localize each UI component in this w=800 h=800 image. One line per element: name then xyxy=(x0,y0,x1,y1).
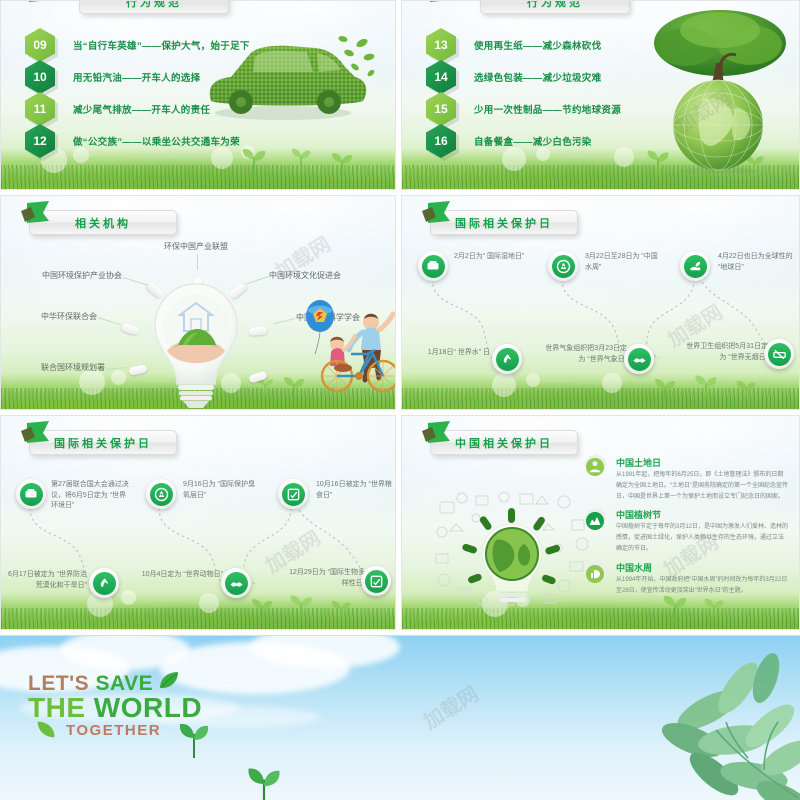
leader-line xyxy=(98,317,121,325)
slide-organizations: 相关机构 环保中国产业联盟 中国环境保护产业协会 中华环保联合会 联合国环境规划… xyxy=(0,195,396,410)
timeline-node[interactable] xyxy=(89,568,119,598)
timeline-node[interactable] xyxy=(548,251,578,281)
sprout-icon xyxy=(650,375,680,403)
slide-title: 相关机构 xyxy=(75,215,131,231)
sprout-icon xyxy=(327,149,357,177)
list-item-text: 自备餐盒——减少白色污染 xyxy=(474,134,592,148)
timeline-label: 3月22日至28日为 “中国水周” xyxy=(585,252,663,273)
bokeh xyxy=(526,373,540,387)
entry-title: 中国植树节 xyxy=(616,508,661,521)
slide-title-wrap: 国际相关保护日 xyxy=(17,430,177,455)
leaf-icon xyxy=(156,668,182,694)
leader-line xyxy=(197,254,198,270)
slide-intl-days-2: 国际相关保护日 第27届联合国大会通过决议，将6月5日定为 “世界环境日” 9月… xyxy=(0,415,396,630)
timeline-node[interactable] xyxy=(680,251,710,281)
watermark: 加载网 xyxy=(417,678,483,734)
slide-title-wrap: 相关机构 xyxy=(17,210,177,235)
hex-number: 09 xyxy=(33,38,46,52)
timeline-label: 世界卫生组织把5月31日定为 “世界无烟日” xyxy=(686,342,768,363)
org-label: 联合国环境规划署 xyxy=(41,362,105,373)
grain-icon xyxy=(282,483,305,506)
entry-body: 从1991年起，把每年的6月25日，即《土地管理法》颁布的日期确定为全国土地日。… xyxy=(616,470,788,503)
bokeh xyxy=(111,370,126,385)
slide-title-wrap: 国际相关保护日 xyxy=(418,210,578,235)
org-center-label: 环保中国产业联盟 xyxy=(164,241,228,252)
timeline-node[interactable] xyxy=(16,479,46,509)
slide-title: 行为规范 xyxy=(126,0,182,10)
timeline-node[interactable] xyxy=(764,339,794,369)
entry-title: 中国土地日 xyxy=(616,456,661,469)
globe-tree-illustration xyxy=(624,3,800,173)
lightbulb-illustration xyxy=(145,281,247,409)
flag-icon xyxy=(422,0,456,6)
no-smoking-icon xyxy=(768,343,791,366)
hand-leaf-icon xyxy=(684,255,707,278)
handshake-icon xyxy=(628,348,651,371)
timeline-label: 6月17日被定为 “世界防治荒漠化和干旱日” xyxy=(5,570,87,591)
slide-deck: 行为规范 09 当“自行车英雄”——保护大气，始于足下 10 用无铅汽油——开车… xyxy=(0,0,800,800)
hex-number: 10 xyxy=(33,70,46,84)
bottom-banner: LET'S SAVE THE WORLD TOGETHER xyxy=(0,635,800,800)
timeline-label: 4月22日也日为全球性的 “地球日” xyxy=(718,252,796,273)
timeline-node[interactable] xyxy=(361,566,391,596)
slide-behavior-1: 行为规范 09 当“自行车英雄”——保护大气，始于足下 10 用无铅汽油——开车… xyxy=(0,0,396,190)
timeline-label: 1月18日“ 世界水” 日 xyxy=(410,348,490,359)
bokeh xyxy=(492,373,516,397)
leader-line xyxy=(246,276,269,284)
water-week-icon[interactable] xyxy=(582,561,608,587)
recycle-icon xyxy=(552,255,575,278)
slide-title: 国际相关保护日 xyxy=(455,215,553,231)
org-label: 中国环境保护产业协会 xyxy=(42,270,122,281)
entry-body: 从1994年开始，中国政府把“中国水周”的时间改为每年的3月22日至28日，使宣… xyxy=(616,575,788,597)
animal-icon xyxy=(225,572,248,595)
slide-title: 国际相关保护日 xyxy=(54,435,152,451)
bokeh xyxy=(199,593,219,613)
family-bicycle-illustration xyxy=(289,296,396,396)
slide-title-bar: 行为规范 xyxy=(79,0,229,14)
slide-behavior-2: 行为规范 13 使用再生纸——减少森林砍伐 14 选绿色包装——减少垃圾灾难 1… xyxy=(401,0,800,190)
list-item[interactable]: 09 当“自行车英雄”——保护大气，始于足下 xyxy=(25,28,250,62)
ozone-icon xyxy=(150,483,173,506)
sprout-icon xyxy=(247,595,277,623)
timeline-node[interactable] xyxy=(492,344,522,374)
slide-china-days: 中国相关保护日 xyxy=(401,415,800,630)
sprout-icon xyxy=(175,718,213,758)
timeline-label: 2月2日为“ 国际湿地日” xyxy=(454,252,532,263)
org-label: 中国环境文化促进会 xyxy=(269,270,341,281)
timeline-node[interactable] xyxy=(221,568,251,598)
timeline-label: 世界气象组织把3月23日定为 “世界气象日” xyxy=(545,344,627,365)
timeline-label: 第27届联合国大会通过决议，将6月5日定为 “世界环境日” xyxy=(51,480,129,512)
slide-title: 中国相关保护日 xyxy=(455,435,553,451)
list-item[interactable]: 14 选绿色包装——减少垃圾灾难 xyxy=(426,60,601,94)
leaf-icon xyxy=(34,716,58,742)
slide-intl-days-1: 国际相关保护日 2月2日为“ 国际湿地日” 3月22日至28日为 “中国水周” xyxy=(401,195,800,410)
bokeh xyxy=(602,373,622,393)
list-item-text: 选绿色包装——减少垃圾灾难 xyxy=(474,70,601,84)
list-item[interactable]: 13 使用再生纸——减少森林砍伐 xyxy=(426,28,601,62)
hex-number: 11 xyxy=(34,102,47,116)
list-item-text: 减少尾气排放——开车人的责任 xyxy=(73,102,210,116)
hex-number: 13 xyxy=(434,38,447,52)
water-drop-icon xyxy=(496,348,519,371)
list-item-text: 当“自行车英雄”——保护大气，始于足下 xyxy=(73,38,250,52)
sprout-icon xyxy=(700,595,728,621)
entry-title: 中国水周 xyxy=(616,561,652,574)
list-item[interactable]: 10 用无铅汽油——开车人的选择 xyxy=(25,60,200,94)
biodiversity-icon xyxy=(365,570,388,593)
hex-number: 16 xyxy=(434,134,447,148)
hex-number: 12 xyxy=(33,134,46,148)
timeline-node[interactable] xyxy=(418,251,448,281)
timeline-label: 9月16日为 “国际保护臭氧层日” xyxy=(183,480,261,501)
desert-icon xyxy=(93,572,116,595)
sprout-icon xyxy=(243,762,285,800)
sprout-icon xyxy=(285,591,317,621)
timeline-label: 10月4日定为 “世界动物日” xyxy=(141,570,223,581)
timeline-node[interactable] xyxy=(624,344,654,374)
bokeh xyxy=(121,590,136,605)
sprout-icon xyxy=(287,145,315,171)
slide-title: 行为规范 xyxy=(527,0,583,10)
entry-body: 中国植树节定于每年的3月12日，是中国为激发人们爱林、造林的感情，促进国土绿化，… xyxy=(616,522,788,555)
slide-title-wrap: 行为规范 xyxy=(420,0,630,14)
timeline-node[interactable] xyxy=(146,479,176,509)
list-item-text: 使用再生纸——减少森林砍伐 xyxy=(474,38,601,52)
flag-icon xyxy=(420,421,454,447)
flag-icon xyxy=(19,201,53,227)
world-doodle-illustration xyxy=(432,488,592,618)
sprout-icon xyxy=(237,145,271,175)
pill-marker xyxy=(120,322,140,335)
timeline-node[interactable] xyxy=(278,479,308,509)
foliage-illustration xyxy=(588,648,800,800)
flag-icon xyxy=(21,0,55,6)
flag-icon xyxy=(420,201,454,227)
list-item[interactable]: 12 做“公交族”——以乘坐公共交通车为荣 xyxy=(25,124,240,158)
timeline-label: 12月29日为 “国际生物多样性日” xyxy=(283,568,365,589)
list-item-text: 少用一次性制品——节约地球资源 xyxy=(474,102,621,116)
slide-title-bar: 行为规范 xyxy=(480,0,630,14)
hex-number: 14 xyxy=(434,70,447,84)
slide-title-wrap: 中国相关保护日 xyxy=(418,430,578,455)
wetland-icon xyxy=(422,255,445,278)
list-item[interactable]: 11 减少尾气排放——开车人的责任 xyxy=(25,92,210,126)
sprout-icon xyxy=(690,371,722,401)
org-label: 中华环保联合会 xyxy=(41,311,97,322)
tree-plant-icon[interactable] xyxy=(582,508,608,534)
earth-day-icon xyxy=(20,483,43,506)
hex-number: 15 xyxy=(434,102,447,116)
timeline-label: 10月16日被定为 “世界粮食日” xyxy=(316,480,394,501)
list-item[interactable]: 16 自备餐盒——减少白色污染 xyxy=(426,124,592,158)
list-item-text: 做“公交族”——以乘坐公共交通车为荣 xyxy=(73,134,240,148)
land-icon[interactable] xyxy=(582,454,608,480)
pill-marker xyxy=(249,326,268,336)
sprout-icon xyxy=(732,377,760,403)
list-item[interactable]: 15 少用一次性制品——节约地球资源 xyxy=(426,92,621,126)
sprout-icon xyxy=(327,597,355,623)
slide-title-wrap: 行为规范 xyxy=(19,0,229,14)
list-item-text: 用无铅汽油——开车人的选择 xyxy=(73,70,200,84)
flag-icon xyxy=(19,421,53,447)
